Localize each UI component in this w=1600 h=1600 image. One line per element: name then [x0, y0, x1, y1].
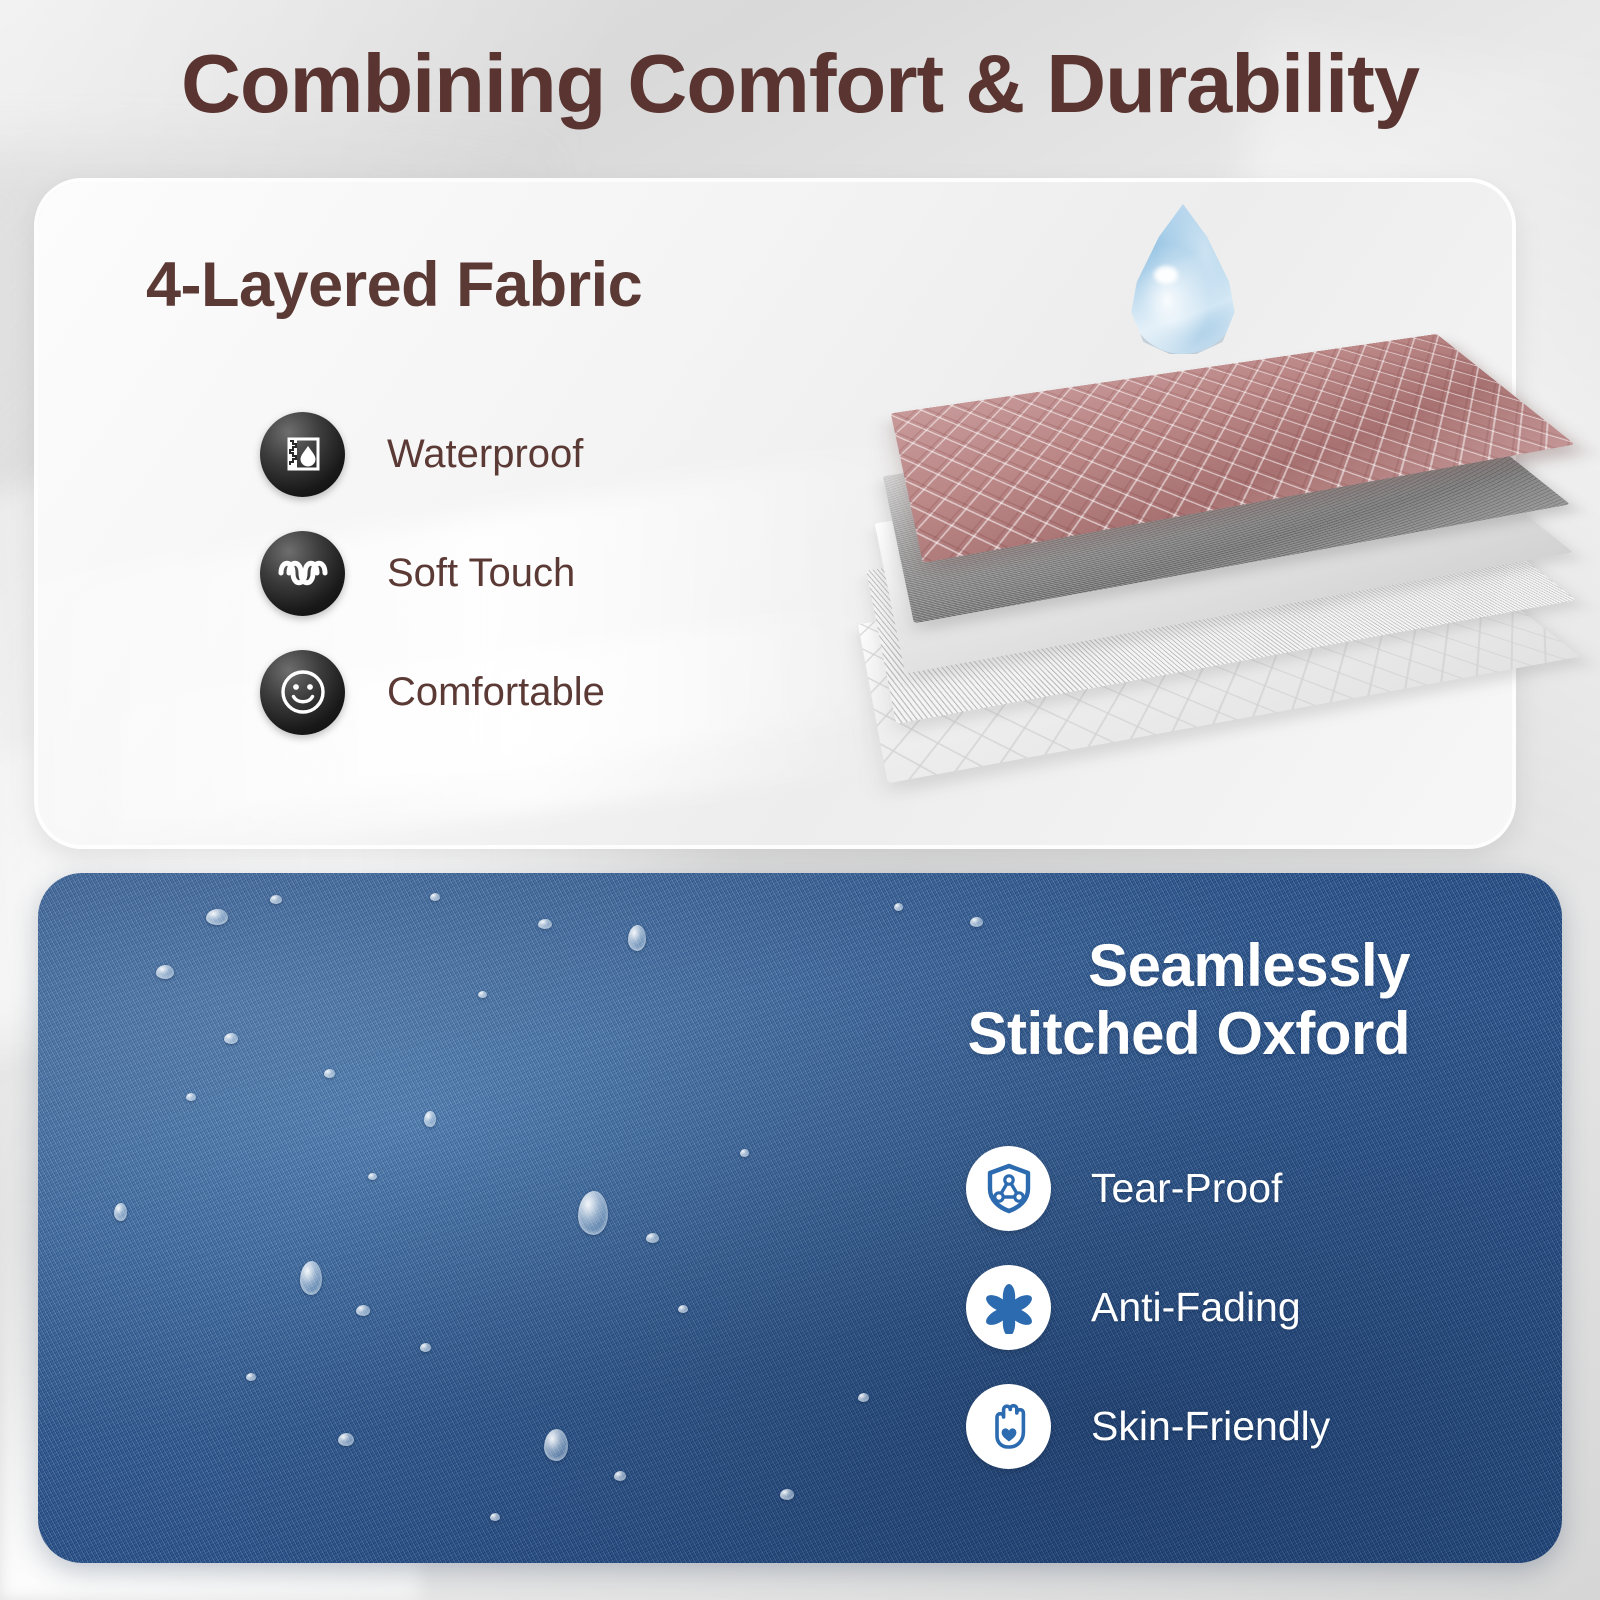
water-bead [420, 1343, 431, 1352]
denim-feature-list: Tear-Proof An [966, 1148, 1330, 1466]
water-bead [678, 1305, 688, 1313]
water-bead [858, 1393, 869, 1402]
list-item[interactable]: Waterproof [260, 414, 605, 494]
water-bead [628, 925, 646, 951]
denim-card-title: Seamlessly Stitched Oxford [967, 932, 1410, 1069]
fabric-feature-list: Waterproof Soft Touch Comfortable [260, 414, 605, 732]
list-item-label: Tear-Proof [1091, 1165, 1282, 1212]
water-bead [324, 1069, 335, 1078]
hand-heart-icon [966, 1384, 1051, 1469]
water-bead [780, 1489, 794, 1500]
water-bead [368, 1173, 377, 1180]
water-bead [430, 893, 440, 901]
water-bead [646, 1233, 659, 1243]
water-bead [490, 1513, 500, 1521]
water-bead [578, 1191, 608, 1235]
fabric-card-title: 4-Layered Fabric [146, 249, 642, 321]
list-item-label: Comfortable [387, 670, 605, 715]
denim-title-line-2: Stitched Oxford [967, 1000, 1410, 1068]
water-bead [356, 1305, 370, 1316]
water-bead [206, 909, 228, 925]
water-bead [970, 917, 983, 927]
water-bead [338, 1433, 354, 1446]
flower-petals-icon [966, 1265, 1051, 1350]
shield-molecule-icon [966, 1146, 1051, 1231]
waterproof-fabric-icon [260, 412, 345, 497]
soft-threads-icon [260, 531, 345, 616]
water-bead [186, 1093, 196, 1101]
water-bead [224, 1033, 238, 1044]
smiley-face-icon [260, 650, 345, 735]
water-bead [424, 1111, 436, 1127]
list-item-label: Skin-Friendly [1091, 1403, 1330, 1450]
list-item-label: Anti-Fading [1091, 1284, 1301, 1331]
list-item[interactable]: Soft Touch [260, 533, 605, 613]
water-bead [156, 965, 174, 979]
water-bead [894, 903, 903, 911]
page-title: Combining Comfort & Durability [0, 36, 1600, 132]
water-bead [270, 895, 282, 904]
water-bead [740, 1149, 749, 1157]
water-bead [614, 1471, 626, 1481]
list-item[interactable]: Tear-Proof [966, 1148, 1330, 1228]
list-item-label: Soft Touch [387, 551, 575, 596]
list-item-label: Waterproof [387, 432, 583, 477]
list-item[interactable]: Skin-Friendly [966, 1386, 1330, 1466]
water-bead [544, 1429, 568, 1461]
water-bead [300, 1261, 322, 1295]
infographic-canvas: Combining Comfort & Durability 4-Layered… [0, 0, 1600, 1600]
water-bead [538, 919, 552, 929]
list-item[interactable]: Comfortable [260, 652, 605, 732]
water-bead [246, 1373, 256, 1381]
water-bead [478, 991, 487, 998]
denim-title-line-1: Seamlessly [967, 932, 1410, 1000]
list-item[interactable]: Anti-Fading [966, 1267, 1330, 1347]
water-bead [114, 1203, 127, 1221]
